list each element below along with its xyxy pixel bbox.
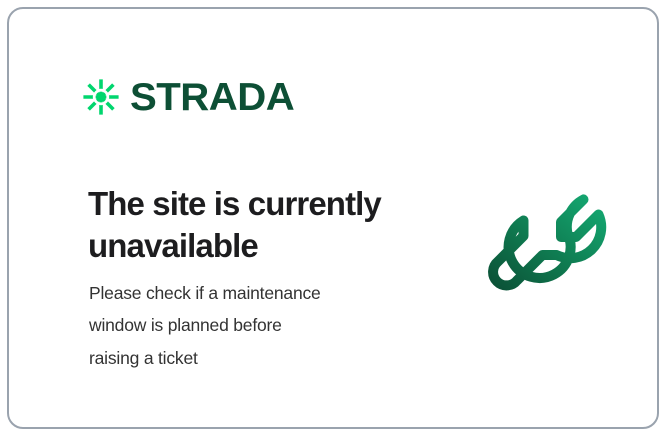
strada-asterisk-icon bbox=[81, 77, 121, 117]
description-line: raising a ticket bbox=[89, 342, 399, 374]
brand-name: STRADA bbox=[130, 78, 294, 117]
page-description: Please check if a maintenance window is … bbox=[89, 277, 399, 374]
error-page: STRADA The site is currently unavailable… bbox=[0, 0, 666, 436]
description-line: window is planned before bbox=[89, 309, 399, 341]
message-card: STRADA The site is currently unavailable… bbox=[7, 7, 659, 429]
brand-lockup: STRADA bbox=[81, 77, 290, 117]
page-title: The site is currently unavailable bbox=[88, 183, 418, 267]
wrench-icon bbox=[461, 157, 629, 325]
description-line: Please check if a maintenance bbox=[89, 277, 399, 309]
